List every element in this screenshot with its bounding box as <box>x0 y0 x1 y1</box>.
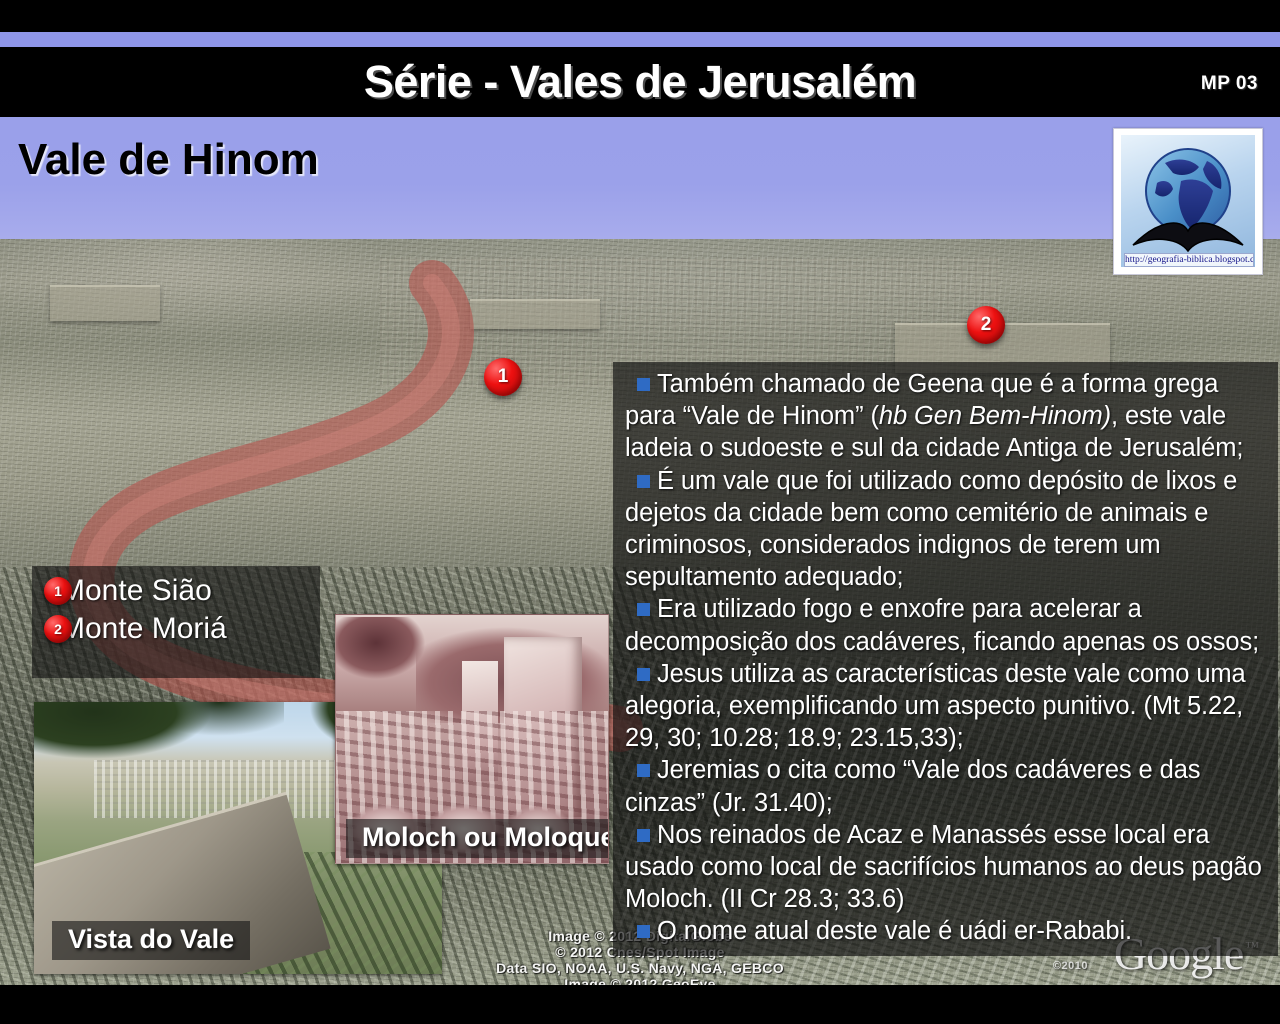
bullet-square-icon <box>637 829 650 842</box>
legend-item-2-label: Monte Moriá <box>60 612 227 646</box>
legend-pin-2: 2 <box>44 615 72 643</box>
bullet-item: Jeremias o cita como “Vale dos cadáveres… <box>625 754 1268 818</box>
terrain-ridge-structure-left <box>50 285 160 321</box>
map-pin-2-label: 2 <box>981 314 992 336</box>
site-logo[interactable]: http://geografia-biblica.blogspot.com <box>1113 128 1263 275</box>
bullet-square-icon <box>637 603 650 616</box>
globe-book-icon <box>1121 135 1255 267</box>
map-pin-1-label: 1 <box>498 366 509 388</box>
map-legend: 1 Monte Sião 2 Monte Moriá <box>32 566 320 678</box>
bullet-text: Era utilizado fogo e enxofre para aceler… <box>625 595 1259 655</box>
presentation-slide: 1 2 Série - Vales de Jerusalém MP 03 Val… <box>0 0 1280 1024</box>
bullet-item: É um vale que foi utilizado como depósit… <box>625 465 1268 594</box>
bullet-square-icon <box>637 475 650 488</box>
photo-vista-caption: Vista do Vale <box>52 921 250 960</box>
bullet-item: O nome atual deste vale é uádi er-Rababi… <box>625 915 1268 947</box>
slide-code-badge: MP 03 <box>1201 73 1258 95</box>
logo-url-label: http://geografia-biblica.blogspot.com <box>1124 253 1254 267</box>
logo-background <box>1121 135 1255 267</box>
photo-moloch-caption: Moloch ou Moloque <box>346 819 609 858</box>
bullet-item: Jesus utiliza as características deste v… <box>625 658 1268 755</box>
title-bar: Série - Vales de Jerusalém MP 03 <box>0 47 1280 117</box>
terrain-ridge-structure-center <box>470 299 600 329</box>
legend-pin-1-number: 1 <box>54 583 62 599</box>
content-text-panel: Também chamado de Geena que é a forma gr… <box>613 362 1278 956</box>
bullet-text: Jesus utiliza as características deste v… <box>625 660 1246 752</box>
legend-item-2: 2 Monte Moriá <box>44 612 227 646</box>
vista-tree-canopy-left <box>34 702 284 772</box>
moloch-tree <box>335 617 440 697</box>
legend-item-1-label: Monte Sião <box>60 574 212 608</box>
series-title: Série - Vales de Jerusalém <box>0 47 1280 117</box>
bullet-square-icon <box>637 378 650 391</box>
bullet-square-icon <box>637 668 650 681</box>
page-title: Vale de Hinom <box>18 135 319 185</box>
bullet-text: O nome atual deste vale é uádi er-Rababi… <box>657 917 1132 945</box>
bullet-item: Era utilizado fogo e enxofre para aceler… <box>625 593 1268 657</box>
google-copyright-year: ©2010 <box>1053 960 1088 972</box>
bullet-item: Nos reinados de Acaz e Manassés esse loc… <box>625 819 1268 916</box>
bullet-text-italic: hb Gen Bem-Hinom) <box>879 402 1111 430</box>
bottom-border-band <box>0 985 1280 1024</box>
legend-pin-2-number: 2 <box>54 621 62 637</box>
bullet-text: Jeremias o cita como “Vale dos cadáveres… <box>625 756 1200 816</box>
bullet-square-icon <box>637 925 650 938</box>
attribution-line-3: Data SIO, NOAA, U.S. Navy, NGA, GEBCO <box>455 960 825 976</box>
map-pin-2[interactable]: 2 <box>967 306 1005 344</box>
bullet-text: Nos reinados de Acaz e Manassés esse loc… <box>625 821 1262 913</box>
photo-moloch-engraving: Moloch ou Moloque <box>335 614 609 864</box>
bullet-item: Também chamado de Geena que é a forma gr… <box>625 368 1268 465</box>
bullet-square-icon <box>637 764 650 777</box>
top-border-band <box>0 0 1280 32</box>
accent-stripe <box>0 32 1280 47</box>
bullet-text: É um vale que foi utilizado como depósit… <box>625 467 1237 592</box>
bullet-list: Também chamado de Geena que é a forma gr… <box>625 368 1268 948</box>
legend-item-1: 1 Monte Sião <box>44 574 212 608</box>
map-pin-1[interactable]: 1 <box>484 358 522 396</box>
legend-pin-1: 1 <box>44 577 72 605</box>
